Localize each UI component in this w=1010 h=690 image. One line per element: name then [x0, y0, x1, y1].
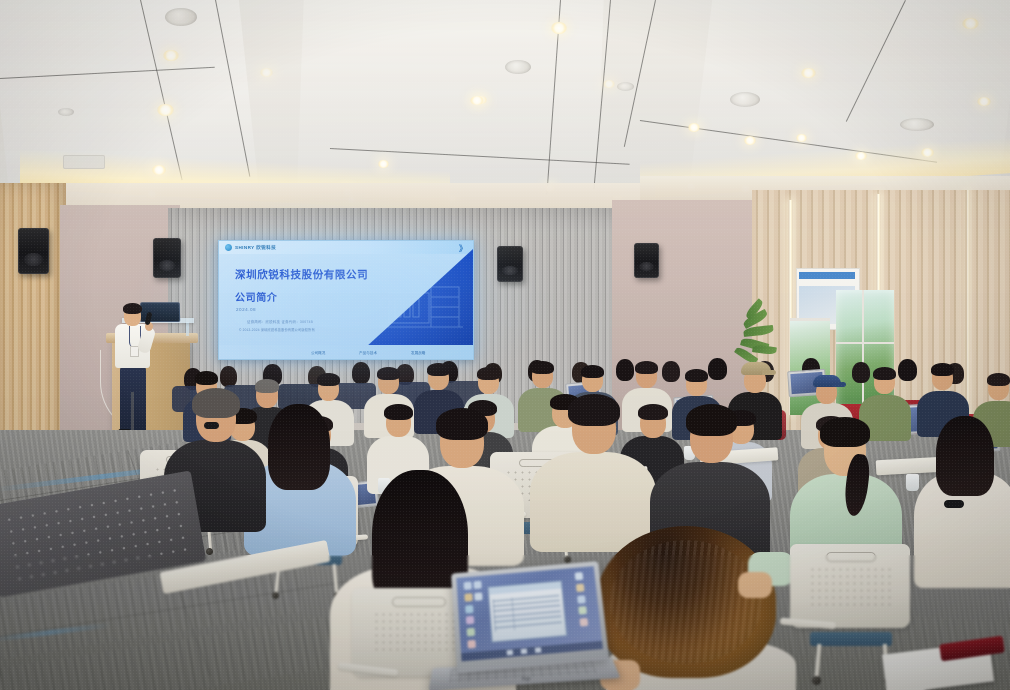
window-titlebar[interactable] [489, 581, 561, 594]
foreground-laptop[interactable]: hp [432, 566, 618, 690]
smoke-detector-icon [617, 82, 634, 91]
window-frame [790, 318, 830, 321]
podium-support [186, 322, 189, 336]
presenter-leg-gap [131, 392, 134, 432]
wall-speaker [634, 243, 659, 278]
downlight [260, 68, 273, 77]
downlight [163, 50, 179, 61]
wall-speaker [18, 228, 49, 274]
attendee-hand [738, 572, 772, 598]
slide-title: 深圳欣锐科技股份有限公司 [235, 267, 368, 282]
wall-speaker [153, 238, 181, 278]
company-logo-icon [225, 244, 232, 251]
taskbar-item[interactable] [506, 650, 512, 656]
ceiling-speaker-icon [900, 118, 934, 131]
laptop-lid [451, 561, 609, 673]
open-application-window[interactable] [487, 580, 566, 642]
taskbar-item[interactable] [521, 649, 527, 655]
slide-corner-mark: 》 [459, 243, 467, 254]
downlight [688, 123, 700, 132]
taskbar-item[interactable] [535, 648, 542, 654]
slide-date: 2024.08 [236, 307, 256, 312]
downlight [603, 80, 615, 88]
downlight [796, 134, 807, 142]
ceiling-vent [63, 155, 105, 169]
windows-taskbar[interactable] [461, 641, 603, 661]
wall-speaker [497, 246, 523, 282]
laptop-brand-logo: hp [522, 676, 531, 682]
ceiling-speaker-icon [165, 8, 197, 26]
slide-product-line-art [375, 277, 467, 339]
downlight [152, 165, 166, 175]
downlight [470, 96, 484, 105]
downlight [551, 22, 567, 34]
presenter-hair [123, 303, 142, 314]
smoke-detector-icon [58, 108, 74, 116]
company-logo-text: SHINRY 欣锐科技 [235, 245, 276, 251]
ceiling-speaker-icon [730, 92, 760, 107]
downlight [744, 136, 756, 145]
wrist-watch [944, 500, 964, 508]
downlight [157, 104, 174, 116]
ceiling-speaker-icon [505, 60, 531, 74]
laptop-screen[interactable] [456, 566, 603, 661]
slide-meta-line-1: 证券简称：欣锐科技 证券代码：300745 [247, 319, 313, 324]
slide-subtitle: 公司简介 [235, 289, 277, 304]
downlight [921, 148, 934, 157]
downlight [378, 160, 389, 168]
slide-meta-line-2: © 2013-2024 深圳欣锐科技股份有限公司版权所有 [239, 327, 315, 332]
notice-board-header [799, 272, 855, 279]
conference-room-photo: SHINRY 欣锐科技 》 深圳欣锐科技股份有限公司 公司简介 2024.08 … [0, 0, 1010, 690]
projection-screen: SHINRY 欣锐科技 》 深圳欣锐科技股份有限公司 公司简介 2024.08 … [218, 240, 474, 360]
window-transom [836, 342, 894, 344]
downlight [801, 68, 816, 78]
downlight [962, 18, 979, 29]
wrist-watch [204, 422, 219, 429]
downlight [977, 97, 991, 106]
downlight [855, 152, 867, 160]
